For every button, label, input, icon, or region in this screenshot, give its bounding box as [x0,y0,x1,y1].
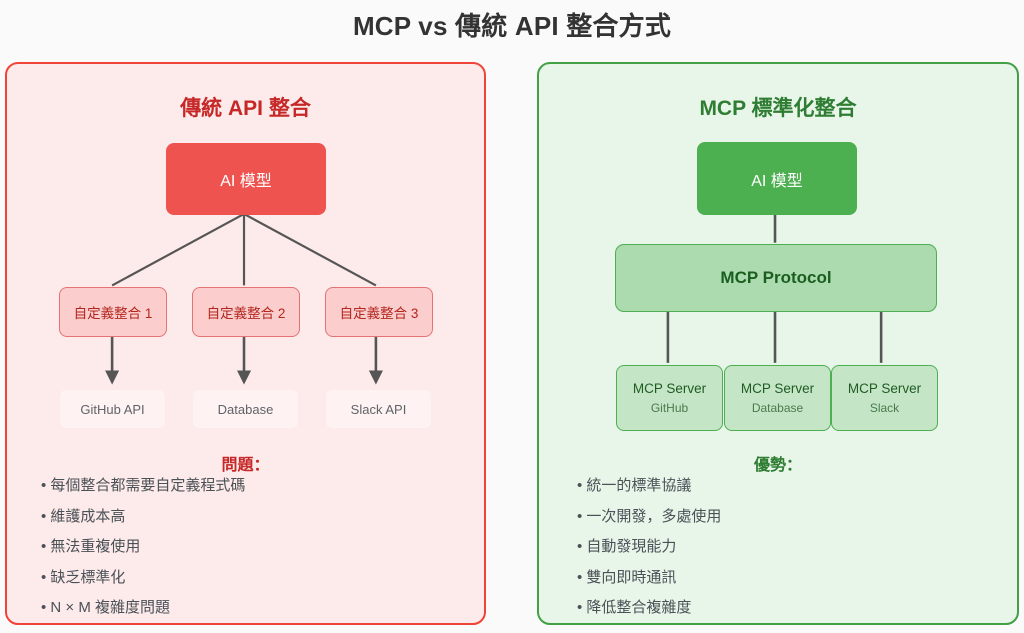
legacy-service-label-database: Database [218,402,274,417]
legacy-integration-label-3: 自定義整合 3 [340,302,419,322]
list-item: 維護成本高 [41,509,245,524]
list-item: 每個整合都需要自定義程式碼 [41,478,245,493]
mcp-server-node-database: MCP Server Database [724,365,831,431]
mcp-server-title-slack: MCP Server [848,381,921,396]
legacy-api-panel: 傳統 API 整合 AI 模型 自定義整合 1 自定義整合 2 [5,62,486,625]
legacy-ai-model-node: AI 模型 [166,143,326,215]
mcp-panel-heading: MCP 標準化整合 [539,92,1017,122]
mcp-standard-panel: MCP 標準化整合 AI 模型 MCP Protocol MCP Server … [537,62,1019,625]
mcp-server-title-database: MCP Server [741,381,814,396]
mcp-server-subtitle-database: Database [752,401,803,415]
legacy-service-node-slack: Slack API [326,390,431,428]
list-item: 缺乏標準化 [41,570,245,585]
mcp-advantages-title: 優勢： [539,451,1017,475]
legacy-integration-label-1: 自定義整合 1 [74,302,153,322]
mcp-server-title-github: MCP Server [633,381,706,396]
mcp-server-node-github: MCP Server GitHub [616,365,723,431]
mcp-server-subtitle-slack: Slack [870,401,899,415]
legacy-integration-label-2: 自定義整合 2 [207,302,286,322]
legacy-service-label-github: GitHub API [80,402,144,417]
page-title: MCP vs 傳統 API 整合方式 [0,6,1024,43]
legacy-problems-title: 問題： [7,451,484,475]
mcp-protocol-label: MCP Protocol [720,268,831,288]
legacy-integration-node-1: 自定義整合 1 [59,287,167,337]
list-item: 自動發現能力 [577,539,721,554]
list-item: 降低整合複雜度 [577,600,721,615]
list-item: 無法重複使用 [41,539,245,554]
mcp-server-subtitle-github: GitHub [651,401,688,415]
mcp-protocol-node: MCP Protocol [615,244,937,312]
list-item: N × M 複雜度問題 [41,600,245,615]
mcp-ai-model-label: AI 模型 [751,167,803,191]
mcp-advantages-list: 統一的標準協議 一次開發，多處使用 自動發現能力 雙向即時通訊 降低整合複雜度 [577,478,721,631]
diagram-canvas: MCP vs 傳統 API 整合方式 傳統 API 整合 AI 模型 自定義整合… [0,0,1024,633]
legacy-integration-node-3: 自定義整合 3 [325,287,433,337]
mcp-server-node-slack: MCP Server Slack [831,365,938,431]
list-item: 統一的標準協議 [577,478,721,493]
list-item: 雙向即時通訊 [577,570,721,585]
legacy-integration-node-2: 自定義整合 2 [192,287,300,337]
list-item: 一次開發，多處使用 [577,509,721,524]
legacy-panel-heading: 傳統 API 整合 [7,92,484,122]
mcp-ai-model-node: AI 模型 [697,142,857,215]
legacy-ai-model-label: AI 模型 [220,167,272,191]
legacy-problems-list: 每個整合都需要自定義程式碼 維護成本高 無法重複使用 缺乏標準化 N × M 複… [41,478,245,631]
legacy-service-node-github: GitHub API [60,390,165,428]
legacy-service-node-database: Database [193,390,298,428]
legacy-service-label-slack: Slack API [351,402,407,417]
